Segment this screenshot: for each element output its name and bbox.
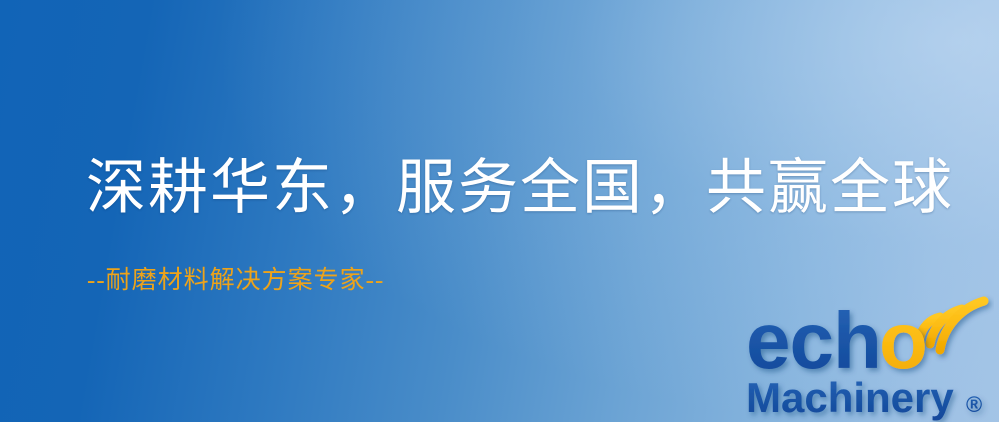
promo-banner: 深耕华东，服务全国，共赢全球 --耐磨材料解决方案专家-- bbox=[0, 0, 999, 422]
echo-machinery-logo[interactable]: ech o Machinery ® bbox=[744, 290, 994, 422]
logo-wordmark-gold: o bbox=[879, 296, 928, 385]
signal-arcs-icon bbox=[920, 301, 984, 350]
banner-headline: 深耕华东，服务全国，共赢全球 bbox=[86, 152, 954, 224]
logo-tagline: Machinery bbox=[746, 374, 954, 421]
banner-subtitle: --耐磨材料解决方案专家-- bbox=[87, 266, 384, 296]
logo-wordmark-blue: ech bbox=[746, 296, 881, 385]
logo-registered-mark: ® bbox=[966, 392, 982, 417]
logo-artwork: ech o Machinery ® bbox=[744, 290, 994, 422]
